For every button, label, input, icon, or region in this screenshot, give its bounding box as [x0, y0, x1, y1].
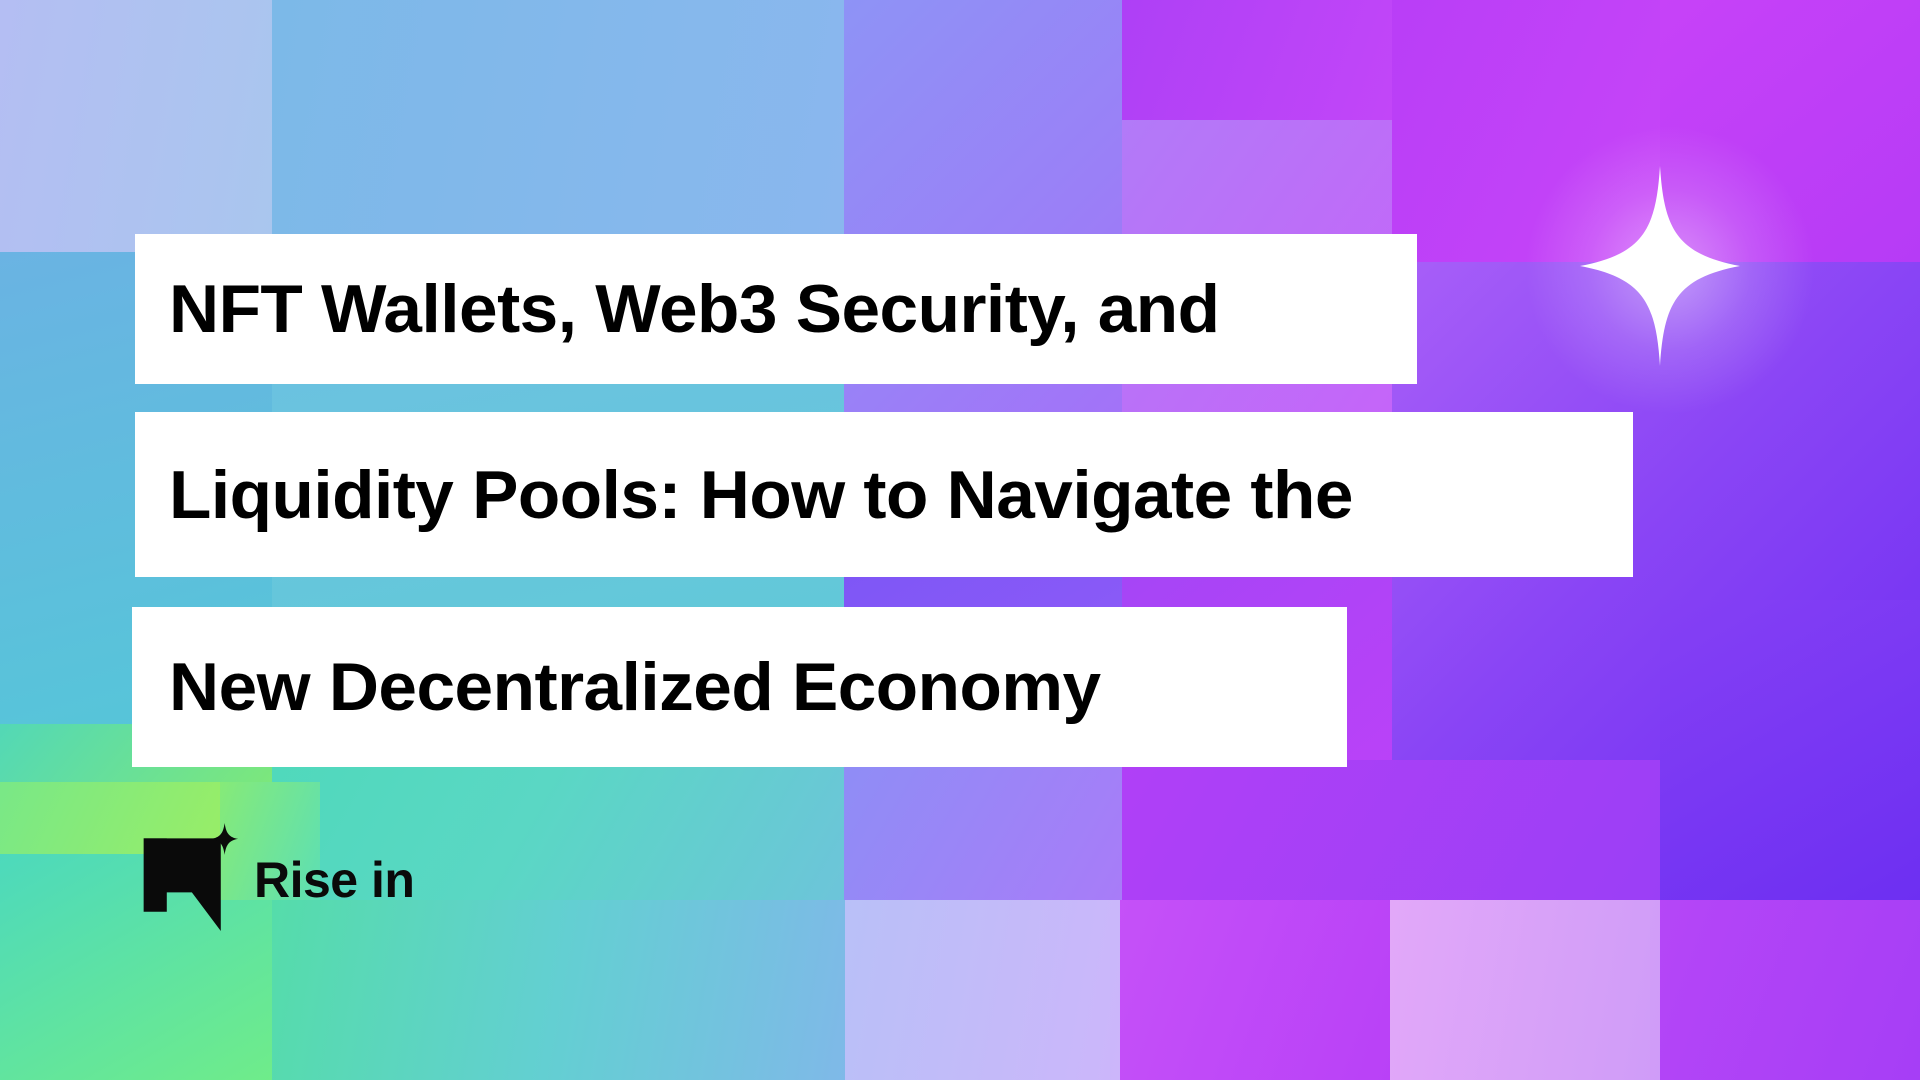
bg-tile-top-left-periwinkle [0, 0, 272, 252]
bg-tile-bottom-right-purple [1660, 900, 1920, 1080]
headline-band-3: New Decentralized Economy [132, 607, 1347, 767]
brand-name: Rise in [254, 855, 414, 905]
bg-tile-magenta-upper [1122, 0, 1392, 120]
headline-line-1: NFT Wallets, Web3 Security, and [169, 275, 1220, 343]
brand-logo[interactable]: Rise in [136, 822, 414, 932]
bg-tile-bottom-orchid [1390, 900, 1660, 1080]
headline-band-1: NFT Wallets, Web3 Security, and [135, 234, 1417, 384]
headline-line-3: New Decentralized Economy [169, 653, 1101, 721]
headline-band-2: Liquidity Pools: How to Navigate the [135, 412, 1633, 577]
bg-tile-bottom-magenta [1120, 900, 1390, 1080]
bg-tile-mid-blue-top [272, 0, 844, 252]
speech-bubble-flag-icon [136, 823, 240, 931]
bg-tile-bottom-lavender [845, 900, 1120, 1080]
bg-tile-center-blue-bottom [844, 760, 1122, 900]
headline-line-2: Liquidity Pools: How to Navigate the [169, 461, 1353, 529]
bg-tile-purple-lower-band [1122, 760, 1660, 900]
bg-tile-right-deepviolet [1660, 600, 1920, 900]
bg-sparkle-glow [1520, 120, 1820, 420]
poster-canvas: NFT Wallets, Web3 Security, and Liquidit… [0, 0, 1920, 1080]
